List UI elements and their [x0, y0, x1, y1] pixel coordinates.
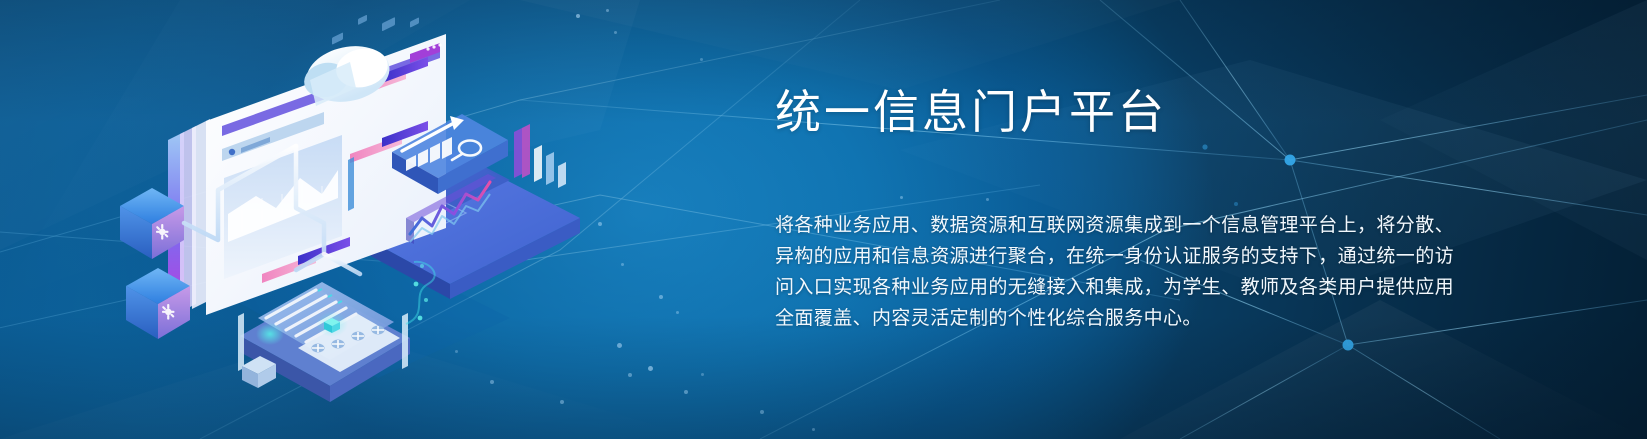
page-description: 将各种业务应用、数据资源和互联网资源集成到一个信息管理平台上，将分散、异构的应用…	[775, 210, 1465, 334]
hero-banner: 统一信息门户平台 将各种业务应用、数据资源和互联网资源集成到一个信息管理平台上，…	[0, 0, 1647, 439]
bar-chart-panel	[514, 124, 566, 188]
isometric-data-platform-illustration	[110, 18, 610, 418]
floor-glow-icon	[316, 311, 348, 337]
page-title: 统一信息门户平台	[775, 84, 1475, 142]
hero-text-block: 统一信息门户平台 将各种业务应用、数据资源和互联网资源集成到一个信息管理平台上，…	[775, 84, 1475, 142]
